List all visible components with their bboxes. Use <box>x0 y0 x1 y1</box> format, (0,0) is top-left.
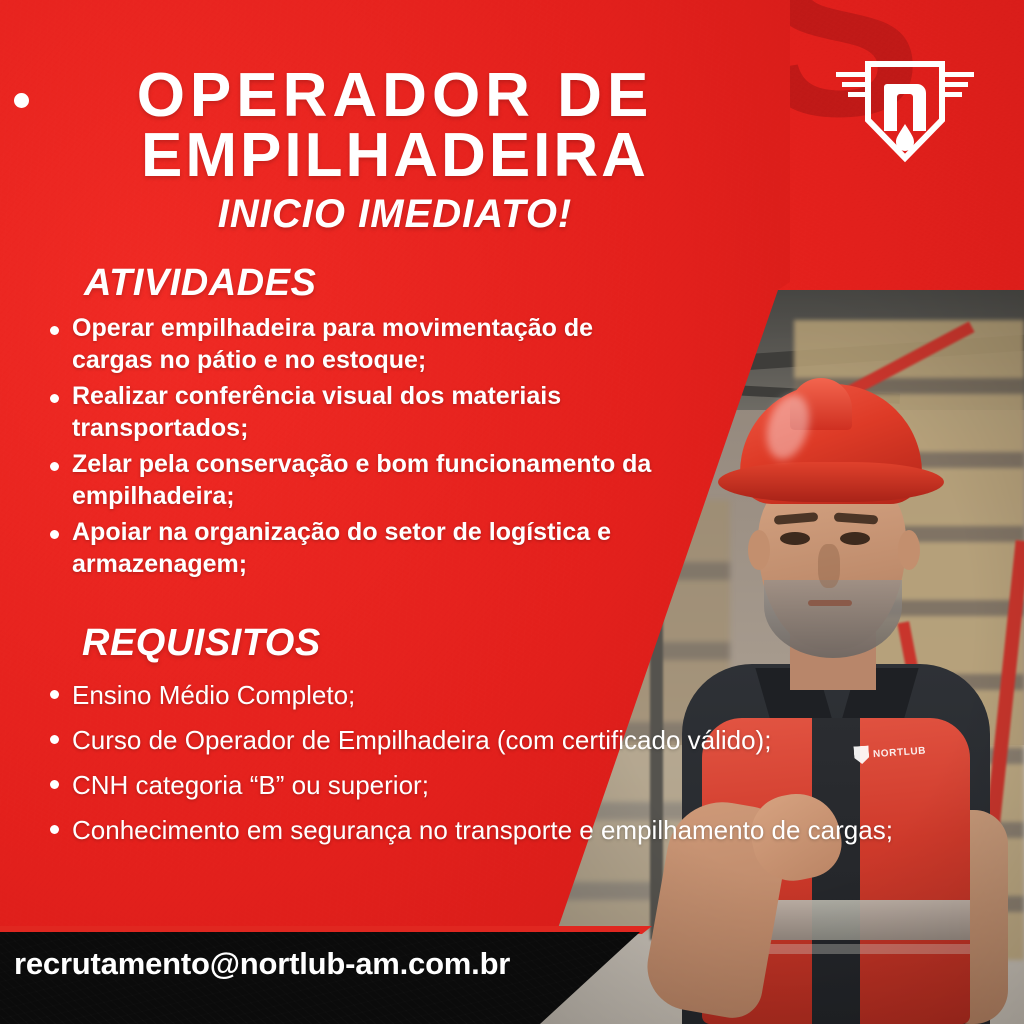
nortlub-shield-logo <box>830 58 980 170</box>
requisitos-list: Ensino Médio Completo; Curso de Operador… <box>44 676 954 856</box>
decorative-dot <box>14 93 29 108</box>
list-item: Apoiar na organização do setor de logíst… <box>44 516 664 580</box>
worker-eye <box>780 532 810 545</box>
contact-email-link[interactable]: recrutamento@nortlub-am.com.br <box>14 946 510 982</box>
list-item: CNH categoria “B” ou superior; <box>44 766 954 805</box>
list-item: Operar empilhadeira para movimentação de… <box>44 312 664 376</box>
worker-eye <box>840 532 870 545</box>
section-heading-atividades: ATIVIDADES <box>84 262 316 305</box>
worker-mouth <box>808 600 852 606</box>
worker-ear <box>898 530 920 570</box>
worker-nose <box>818 544 840 588</box>
list-item: Curso de Operador de Empilhadeira (com c… <box>44 721 954 760</box>
section-heading-requisitos: REQUISITOS <box>82 622 321 665</box>
list-item: Realizar conferência visual dos materiai… <box>44 380 664 444</box>
list-item: Ensino Médio Completo; <box>44 676 954 715</box>
list-item: Conhecimento em segurança no transporte … <box>44 811 954 850</box>
worker-beard <box>764 580 902 658</box>
job-posting-poster: VAGAS <box>0 0 1024 1024</box>
worker-ear <box>748 530 770 570</box>
list-item: Zelar pela conservação e bom funcionamen… <box>44 448 664 512</box>
atividades-list: Operar empilhadeira para movimentação de… <box>44 312 664 584</box>
